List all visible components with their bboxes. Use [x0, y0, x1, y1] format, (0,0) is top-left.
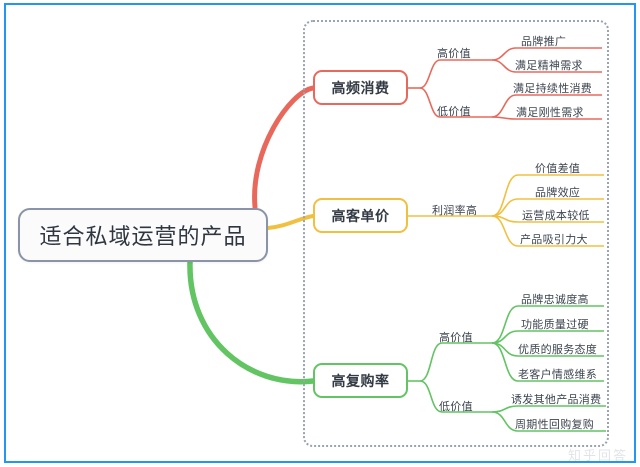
leaf-label[interactable]: 满足精神需求 — [515, 57, 583, 73]
leaf-label[interactable]: 满足持续性消费 — [513, 80, 592, 96]
leaf-label[interactable]: 优质的服务态度 — [518, 341, 597, 357]
leaf-label[interactable]: 运营成本较低 — [522, 207, 590, 223]
leaf-label[interactable]: 品牌效应 — [535, 184, 580, 200]
mid-label-b3-low-value[interactable]: 低价值 — [439, 398, 473, 414]
mid-label-b1-low-value[interactable]: 低价值 — [437, 103, 471, 119]
leaf-label[interactable]: 功能质量过硬 — [521, 316, 589, 332]
branch-node-label: 高复购率 — [332, 371, 390, 391]
leaf-label[interactable]: 诱发其他产品消费 — [511, 391, 601, 407]
leaf-label[interactable]: 周期性回购复购 — [515, 416, 594, 432]
leaf-label[interactable]: 满足刚性需求 — [516, 104, 584, 120]
branch-node-label: 高频消费 — [332, 78, 390, 98]
leaf-label[interactable]: 老客户情感维系 — [518, 366, 597, 382]
leaf-label[interactable]: 品牌忠诚度高 — [521, 291, 589, 307]
mid-label-b2-profit-rate[interactable]: 利润率高 — [432, 202, 477, 218]
leaf-label[interactable]: 产品吸引力大 — [520, 231, 588, 247]
root-node-label: 适合私域运营的产品 — [39, 219, 246, 251]
branch-node-high-frequency[interactable]: 高频消费 — [313, 70, 408, 105]
branch-node-label: 高客单价 — [332, 206, 390, 226]
root-node[interactable]: 适合私域运营的产品 — [18, 208, 268, 262]
mid-label-b1-high-value[interactable]: 高价值 — [437, 45, 471, 61]
branch-node-high-unit-price[interactable]: 高客单价 — [313, 198, 408, 233]
branch-node-high-repurchase[interactable]: 高复购率 — [313, 363, 408, 398]
mindmap-canvas: 适合私域运营的产品 高频消费 高客单价 高复购率 高价值 低价值 品牌推广 满足… — [0, 0, 640, 467]
leaf-label[interactable]: 品牌推广 — [521, 33, 566, 49]
watermark: 知乎回答 — [568, 445, 628, 464]
mid-label-b3-high-value[interactable]: 高价值 — [439, 329, 473, 345]
leaf-label[interactable]: 价值差值 — [535, 160, 580, 176]
